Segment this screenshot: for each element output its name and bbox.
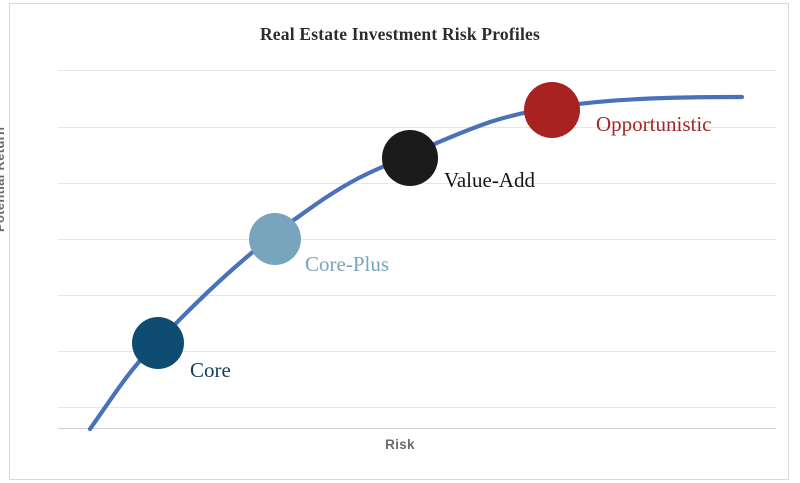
chart-title: Real Estate Investment Risk Profiles: [0, 24, 800, 45]
x-axis-title: Risk: [0, 437, 800, 452]
bubble-core-plus[interactable]: [249, 213, 301, 265]
bubble-core[interactable]: [132, 317, 184, 369]
gridline: [58, 239, 776, 240]
label-opportunistic: Opportunistic: [596, 112, 712, 137]
label-core: Core: [190, 358, 231, 383]
gridline: [58, 295, 776, 296]
x-axis-line: [58, 428, 776, 429]
bubble-opportunistic[interactable]: [524, 82, 580, 138]
label-core-plus: Core-Plus: [305, 252, 389, 277]
y-axis-title: Potential Return: [0, 127, 7, 232]
bubble-value-add[interactable]: [382, 130, 438, 186]
label-value-add: Value-Add: [444, 168, 535, 193]
gridline: [58, 70, 776, 71]
gridline: [58, 407, 776, 408]
chart-container: Real Estate Investment Risk Profiles Cor…: [0, 0, 800, 483]
